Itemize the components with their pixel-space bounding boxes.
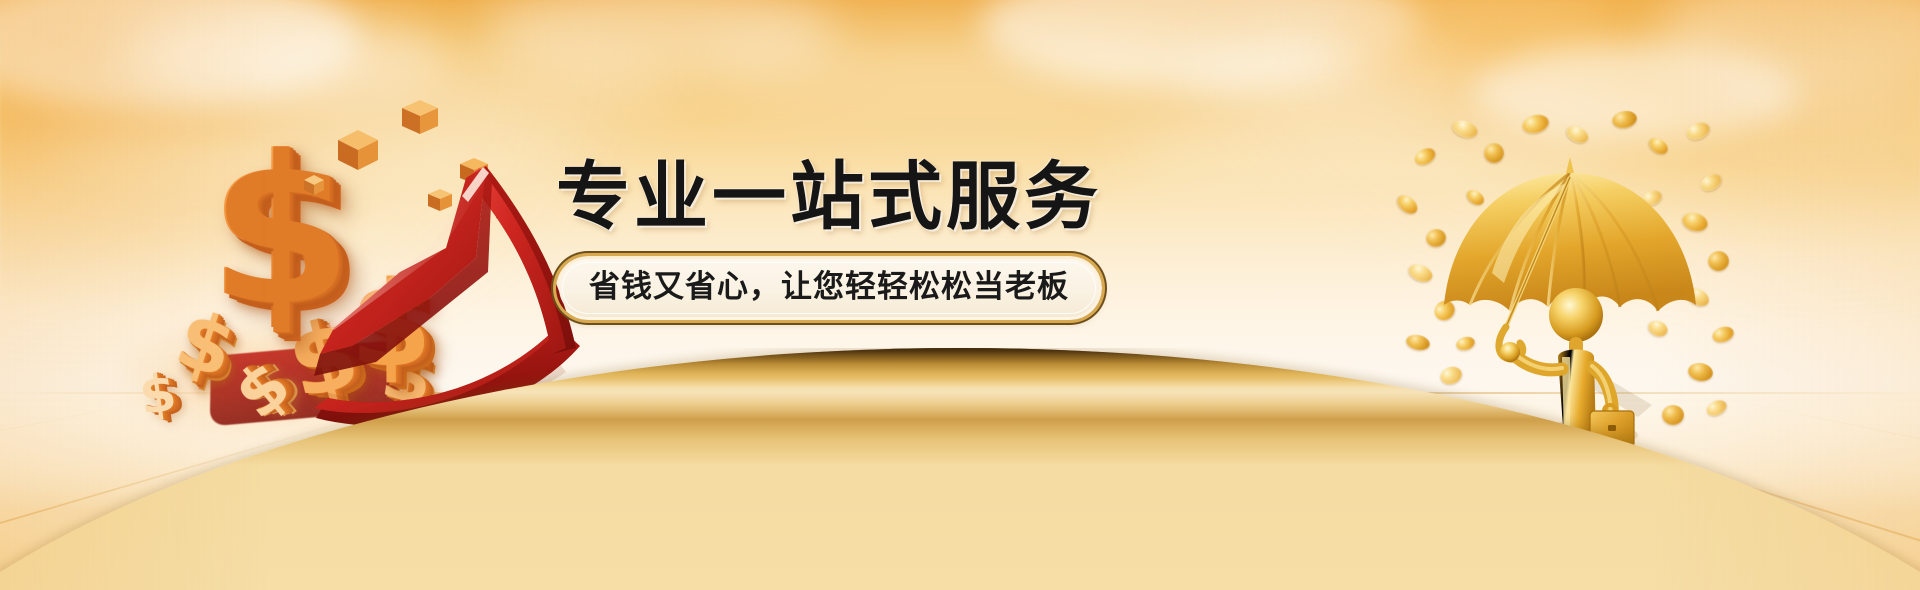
subtitle-pill: 省钱又省心，让您轻轻松松当老板 [556, 256, 1102, 320]
banner-subtitle: 省钱又省心，让您轻轻松松当老板 [589, 270, 1069, 304]
gold-curved-band [0, 348, 1920, 590]
banner-headline: 专业一站式服务 [556, 160, 1076, 234]
banner-text-block: 专业一站式服务 省钱又省心，让您轻轻松松当老板 [556, 160, 1076, 320]
promo-banner: $ $ $ $ $ $ $ [0, 0, 1920, 590]
